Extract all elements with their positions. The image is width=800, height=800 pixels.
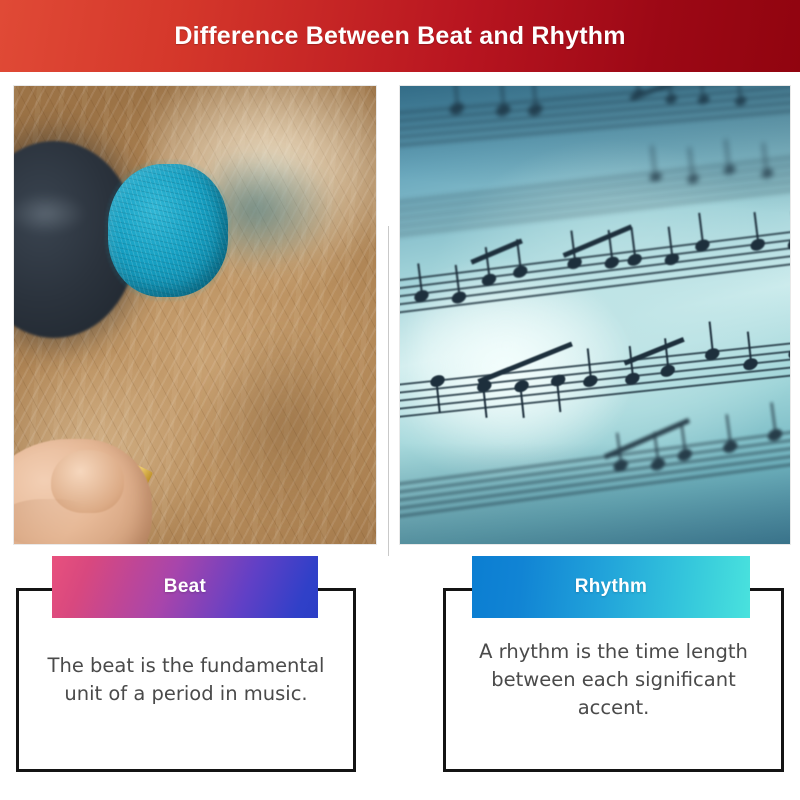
beat-label-chip: Beat <box>52 556 318 618</box>
rhythm-photo-inner <box>400 86 790 544</box>
beat-label: Beat <box>164 576 206 598</box>
mallet-motion-blur <box>213 150 336 269</box>
beat-photo <box>14 86 376 544</box>
gong-shadow <box>202 324 369 526</box>
infographic-root: Difference Between Beat and Rhythm <box>0 0 800 800</box>
sheet-music-vignette <box>400 86 790 544</box>
header-bar: Difference Between Beat and Rhythm <box>0 0 800 72</box>
mallet-fuzz-texture <box>105 160 232 301</box>
rhythm-photo <box>400 86 790 544</box>
rhythm-label: Rhythm <box>575 576 648 598</box>
beat-description-text: The beat is the fundamental unit of a pe… <box>35 652 337 707</box>
rhythm-description-text: A rhythm is the time length between each… <box>462 638 765 721</box>
panel-divider <box>388 226 389 556</box>
rhythm-label-chip: Rhythm <box>472 556 750 618</box>
mallet-head <box>108 164 227 297</box>
beat-photo-inner <box>14 86 376 544</box>
page-title: Difference Between Beat and Rhythm <box>174 22 625 51</box>
image-panel-row <box>0 86 800 544</box>
